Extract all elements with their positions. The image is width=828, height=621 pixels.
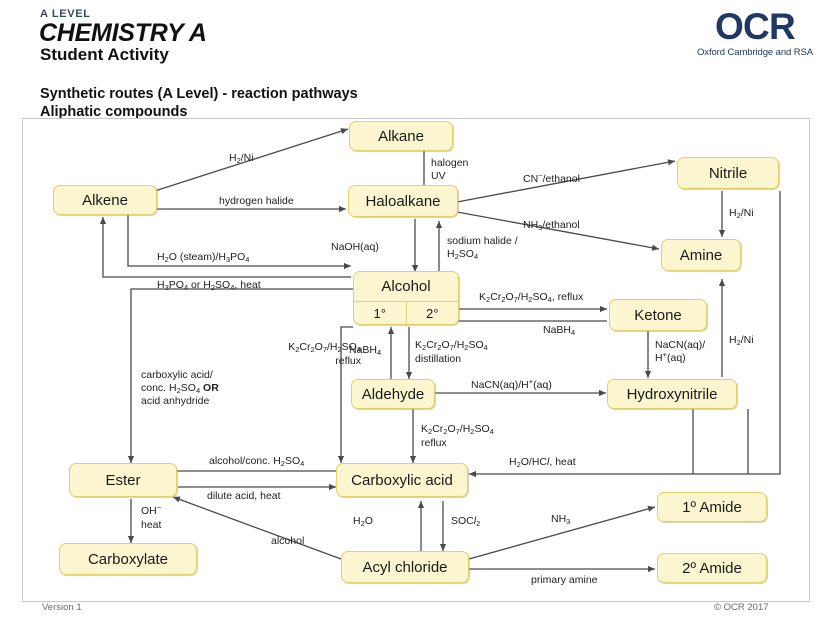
- node-haloalkane-label: Haloalkane: [365, 193, 440, 210]
- edge-label-h3po4-or-h2so4-heat: H3PO4 or H2SO4, heat: [157, 279, 261, 293]
- node-ketone-label: Ketone: [634, 307, 682, 324]
- version-label: Version 1: [42, 602, 82, 613]
- ocr-logo: OCR Oxford Cambridge and RSA: [690, 8, 820, 64]
- edge-label-nh3-ethanol: NH3/ethanol: [523, 219, 580, 233]
- node-ester-label: Ester: [105, 472, 140, 489]
- edge-label-oh-heat: OH−heat: [141, 505, 181, 531]
- edge-label-dilute-acid-heat: dilute acid, heat: [207, 490, 281, 503]
- node-haloalkane[interactable]: Haloalkane: [348, 185, 458, 217]
- edge-label-hydrogen-halide: hydrogen halide: [219, 195, 294, 208]
- page-title-line-1: Synthetic routes (A Level) - reaction pa…: [40, 86, 358, 102]
- edge-label-cn-ethanol: CN−/ethanol: [523, 173, 580, 187]
- edge-label-h2-ni-nitrile-amine: H2/Ni: [729, 207, 754, 221]
- node-alkane[interactable]: Alkane: [349, 121, 453, 151]
- node-alcohol[interactable]: Alcohol 1° 2°: [353, 271, 459, 325]
- node-alcohol-label: Alcohol: [354, 272, 458, 301]
- edge-label-k2cr2o7-distillation: K2Cr2O7/H2SO4distillation: [415, 339, 535, 365]
- node-aldehyde[interactable]: Aldehyde: [351, 379, 435, 409]
- node-carboxylate[interactable]: Carboxylate: [59, 543, 197, 575]
- node-hydroxynitrile-label: Hydroxynitrile: [627, 386, 718, 403]
- edge-label-nacn-h-ketone: NaCN(aq)/H+(aq): [655, 339, 735, 365]
- edge-label-sodium-halide-h2so4: sodium halide /H2SO4: [447, 235, 547, 261]
- node-acyl-chloride-label: Acyl chloride: [362, 559, 447, 576]
- node-alkene[interactable]: Alkene: [53, 185, 157, 215]
- node-ester[interactable]: Ester: [69, 463, 177, 497]
- copyright-label: © OCR 2017: [714, 602, 769, 613]
- qualification-title: CHEMISTRY A: [39, 19, 207, 48]
- node-primary-amide[interactable]: 1º Amide: [657, 492, 767, 522]
- edge-label-carboxylic-acid-anhydride: carboxylic acid/conc. H2SO4 ORacid anhyd…: [141, 369, 281, 408]
- node-carboxylic-acid-label: Carboxylic acid: [351, 472, 453, 489]
- node-hydroxynitrile[interactable]: Hydroxynitrile: [607, 379, 737, 409]
- edge-label-k2cr2o7-reflux-left: K2Cr2O7/H2SO4reflux: [251, 341, 361, 367]
- node-amine-label: Amine: [680, 247, 723, 264]
- edge-label-alcohol-acyl: alcohol: [271, 535, 304, 548]
- node-nitrile-label: Nitrile: [709, 165, 747, 182]
- edge-label-h2-ni-hydroxynitrile-amine: H2/Ni: [729, 334, 754, 348]
- node-alkene-label: Alkene: [82, 192, 128, 209]
- edge-label-nacn-h-aldehyde: NaCN(aq)/H+(aq): [471, 379, 552, 393]
- edge-label-k2cr2o7-reflux-ketone: K2Cr2O7/H2SO4, reflux: [479, 291, 583, 305]
- node-alkane-label: Alkane: [378, 128, 424, 145]
- page-header: A LEVEL CHEMISTRY A Student Activity OCR…: [0, 0, 828, 70]
- node-acyl-chloride[interactable]: Acyl chloride: [341, 551, 469, 583]
- edge-label-h2o-steam-h3po4: H2O (steam)/H3PO4: [157, 251, 249, 265]
- edge-label-nabh4-ketone: NaBH4: [543, 324, 575, 338]
- document-type: Student Activity: [40, 45, 169, 65]
- edge-label-h2-ni-alkene-alkane: H2/Ni: [229, 152, 254, 166]
- edge-label-h2o-acyl: H2O: [353, 515, 373, 529]
- node-amine[interactable]: Amine: [661, 239, 741, 271]
- edge-label-naoh-aq: NaOH(aq): [331, 241, 379, 254]
- node-alcohol-classes: 1° 2°: [354, 301, 458, 324]
- ocr-logo-strapline: Oxford Cambridge and RSA: [690, 47, 820, 58]
- edge-label-nh3-amide: NH3: [551, 513, 570, 527]
- edge-label-alcohol-conc-h2so4: alcohol/conc. H2SO4: [209, 455, 304, 469]
- edge-label-halogen-uv: halogenUV: [431, 157, 491, 182]
- edge-label-h2o-hcl-heat: H2O/HCl, heat: [509, 456, 576, 470]
- edge-label-k2cr2o7-reflux-aldehyde: K2Cr2O7/H2SO4reflux: [421, 423, 541, 449]
- node-carboxylate-label: Carboxylate: [88, 551, 168, 568]
- edge-label-socl2: SOCl2: [451, 515, 480, 529]
- node-primary-amide-label: 1º Amide: [682, 499, 742, 516]
- node-secondary-amide-label: 2º Amide: [682, 560, 742, 577]
- node-nitrile[interactable]: Nitrile: [677, 157, 779, 189]
- node-ketone[interactable]: Ketone: [609, 299, 707, 331]
- node-carboxylic-acid[interactable]: Carboxylic acid: [336, 463, 468, 497]
- ocr-logo-mark: OCR: [690, 8, 820, 45]
- reaction-pathway-diagram: Alkane Alkene Haloalkane Nitrile Amine A…: [22, 118, 810, 602]
- node-alcohol-secondary[interactable]: 2°: [407, 302, 459, 324]
- node-secondary-amide[interactable]: 2º Amide: [657, 553, 767, 583]
- node-alcohol-primary[interactable]: 1°: [354, 302, 407, 324]
- edge-label-primary-amine: primary amine: [531, 574, 598, 587]
- node-aldehyde-label: Aldehyde: [362, 386, 425, 403]
